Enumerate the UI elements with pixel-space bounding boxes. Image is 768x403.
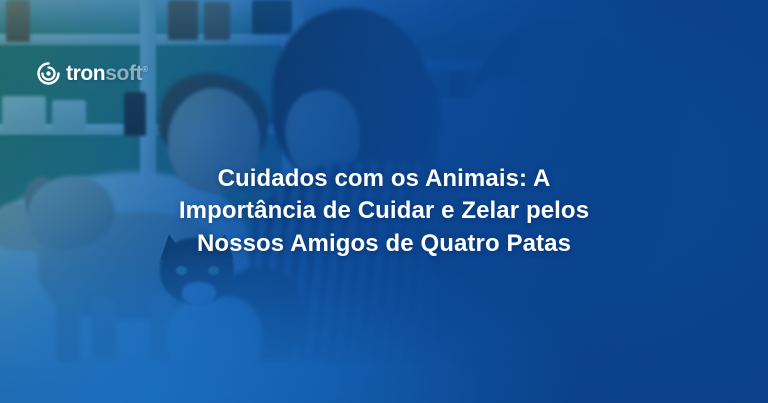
page-title: Cuidados com os Animais: A Importância d… — [169, 163, 599, 260]
logo-wordmark: tronsoft® — [66, 63, 148, 84]
tronsoft-swirl-icon — [37, 62, 60, 85]
logo-trademark: ® — [142, 65, 148, 74]
logo-word-secondary: soft — [105, 62, 142, 85]
logo-word-primary: tron — [66, 62, 105, 85]
tronsoft-logo[interactable]: tronsoft® — [37, 62, 148, 85]
article-hero-banner: tronsoft® Cuidados com os Animais: A Imp… — [0, 0, 768, 403]
